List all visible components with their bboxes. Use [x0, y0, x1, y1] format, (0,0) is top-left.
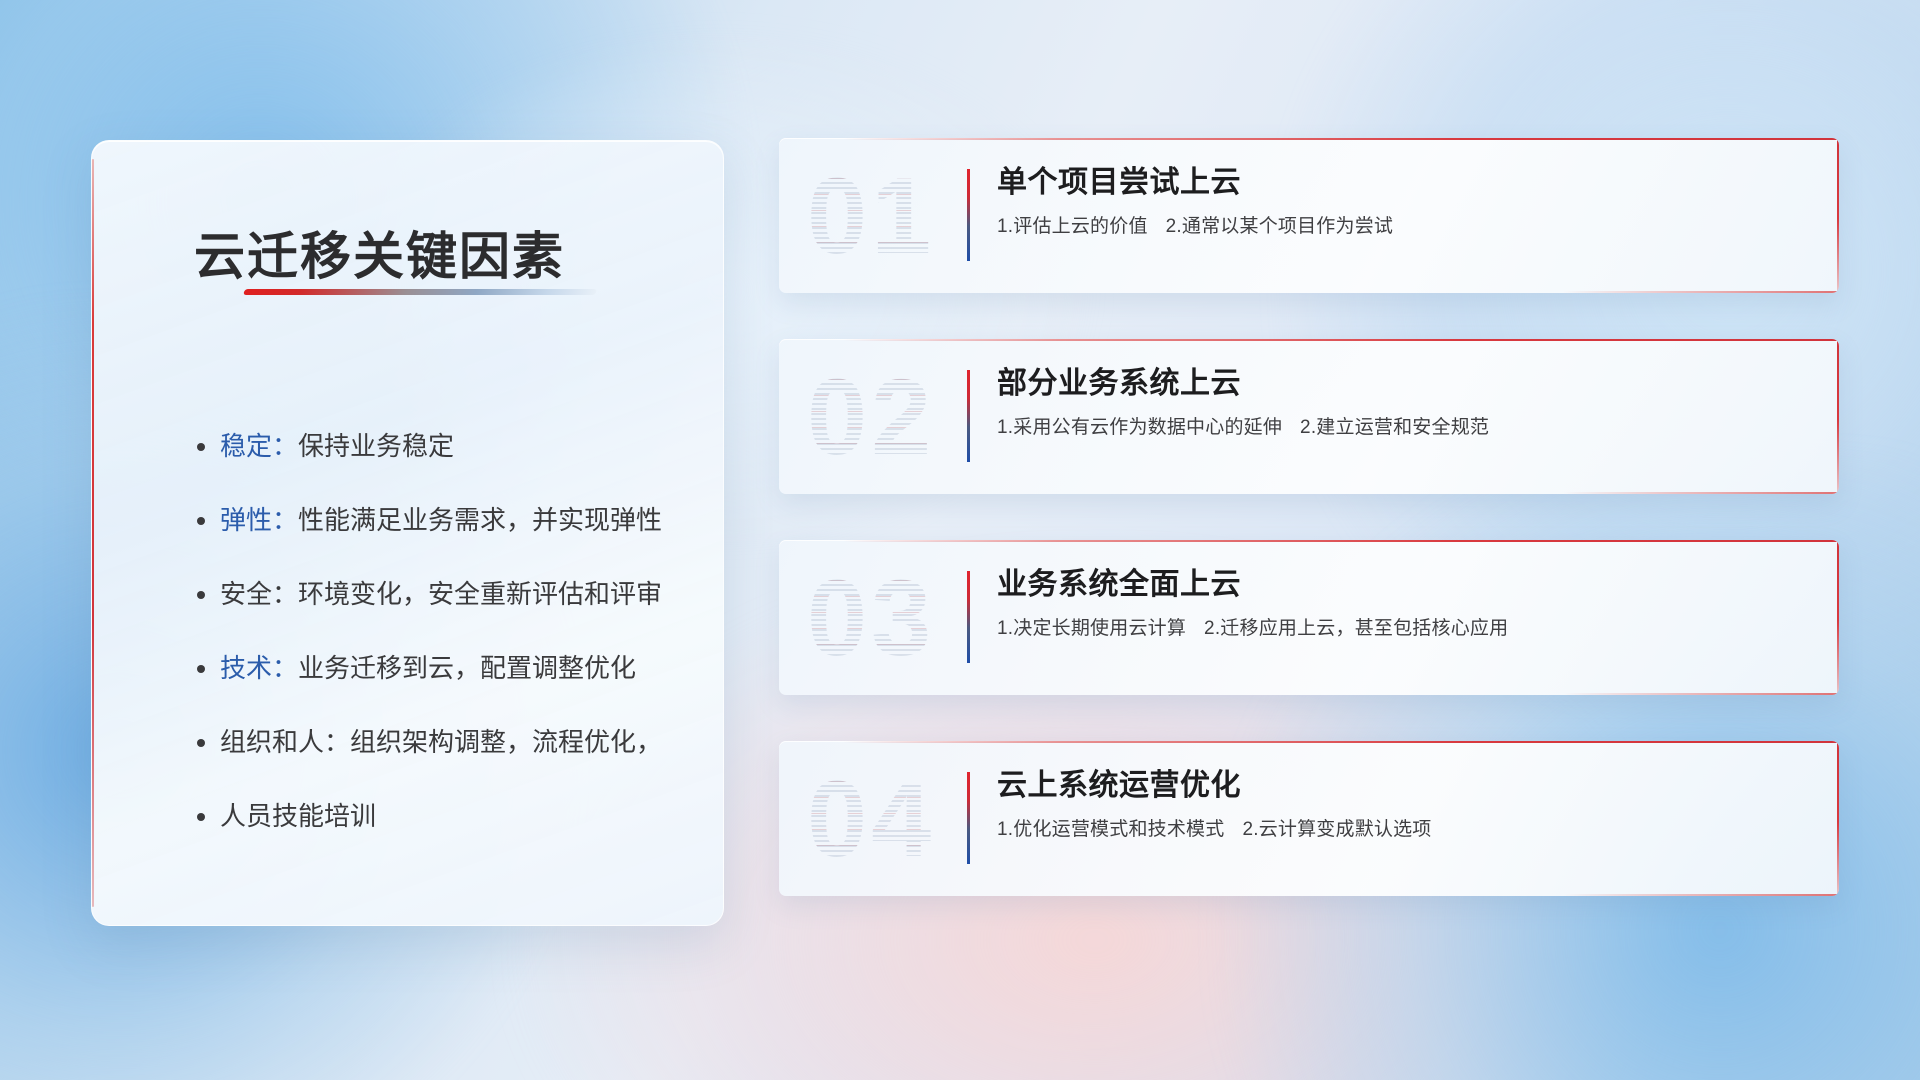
key-factor-text: 环境变化，安全重新评估和评审	[298, 579, 662, 609]
card-bottom-accent-line	[1563, 693, 1839, 695]
key-factors-panel: 云迁移关键因素 稳定：保持业务稳定弹性：性能满足业务需求，并实现弹性安全：环境变…	[91, 140, 724, 926]
key-factors-list: 稳定：保持业务稳定弹性：性能满足业务需求，并实现弹性安全：环境变化，安全重新评估…	[220, 409, 683, 853]
key-factor-label: 安全：	[220, 579, 298, 609]
step-divider-bar	[967, 169, 970, 261]
step-point: 1.评估上云的价值	[997, 216, 1148, 237]
step-point: 1.决定长期使用云计算	[997, 618, 1186, 639]
migration-steps-list: 0101单个项目尝试上云1.评估上云的价值2.通常以某个项目作为尝试0202部分…	[779, 138, 1839, 942]
key-factor-text: 人员技能培训	[220, 801, 376, 831]
key-factor-text: 组织架构调整，流程优化，	[350, 727, 662, 757]
migration-step-card[interactable]: 0202部分业务系统上云1.采用公有云作为数据中心的延伸2.建立运营和安全规范	[779, 339, 1839, 494]
page-title: 云迁移关键因素	[194, 215, 565, 289]
key-factor-label: 弹性：	[220, 505, 298, 535]
step-title: 云上系统运营优化	[997, 767, 1799, 805]
step-description: 1.优化运营模式和技术模式2.云计算变成默认选项	[997, 817, 1799, 844]
step-body: 单个项目尝试上云1.评估上云的价值2.通常以某个项目作为尝试	[997, 164, 1799, 240]
card-bottom-accent-line	[1563, 291, 1839, 293]
step-body: 部分业务系统上云1.采用公有云作为数据中心的延伸2.建立运营和安全规范	[997, 365, 1799, 441]
card-top-accent-line	[843, 339, 1839, 341]
migration-step-card[interactable]: 0404云上系统运营优化1.优化运营模式和技术模式2.云计算变成默认选项	[779, 741, 1839, 896]
key-factor-item: 稳定：保持业务稳定	[220, 409, 683, 483]
migration-step-card[interactable]: 0303业务系统全面上云1.决定长期使用云计算2.迁移应用上云，甚至包括核心应用	[779, 540, 1839, 695]
step-divider-bar	[967, 772, 970, 864]
step-point: 1.优化运营模式和技术模式	[997, 819, 1224, 840]
key-factor-text: 业务迁移到云，配置调整优化	[298, 653, 636, 683]
step-title: 单个项目尝试上云	[997, 164, 1799, 202]
card-right-accent-line	[1837, 540, 1839, 695]
card-right-accent-line	[1837, 138, 1839, 293]
step-description: 1.决定长期使用云计算2.迁移应用上云，甚至包括核心应用	[997, 616, 1799, 643]
card-top-accent-line	[843, 540, 1839, 542]
key-factor-item: 弹性：性能满足业务需求，并实现弹性	[220, 483, 683, 557]
step-point: 2.通常以某个项目作为尝试	[1166, 216, 1393, 237]
step-number-ghost: 02	[807, 363, 935, 471]
card-top-accent-line	[843, 138, 1839, 140]
step-title: 业务系统全面上云	[997, 566, 1799, 604]
step-divider-bar	[967, 571, 970, 663]
key-factor-item: 技术：业务迁移到云，配置调整优化	[220, 631, 683, 705]
step-point: 2.云计算变成默认选项	[1242, 819, 1431, 840]
step-divider-bar	[967, 370, 970, 462]
step-number-ghost: 01	[807, 162, 935, 270]
step-point: 2.建立运营和安全规范	[1300, 417, 1489, 438]
key-factor-item: 人员技能培训	[220, 779, 683, 853]
key-factor-label: 技术：	[220, 653, 298, 683]
step-title: 部分业务系统上云	[997, 365, 1799, 403]
key-factor-item: 组织和人：组织架构调整，流程优化，	[220, 705, 683, 779]
slide-stage: 云迁移关键因素 稳定：保持业务稳定弹性：性能满足业务需求，并实现弹性安全：环境变…	[0, 0, 1920, 1080]
step-description: 1.评估上云的价值2.通常以某个项目作为尝试	[997, 214, 1799, 241]
key-factor-text: 保持业务稳定	[298, 431, 454, 461]
card-right-accent-line	[1837, 741, 1839, 896]
step-number-ghost: 03	[807, 564, 935, 672]
step-point: 1.采用公有云作为数据中心的延伸	[997, 417, 1282, 438]
step-body: 云上系统运营优化1.优化运营模式和技术模式2.云计算变成默认选项	[997, 767, 1799, 843]
card-bottom-accent-line	[1563, 492, 1839, 494]
title-underline-accent	[243, 289, 597, 295]
step-number-ghost: 04	[807, 765, 935, 873]
key-factor-label: 稳定：	[220, 431, 298, 461]
key-factor-label: 组织和人：	[220, 727, 350, 757]
step-body: 业务系统全面上云1.决定长期使用云计算2.迁移应用上云，甚至包括核心应用	[997, 566, 1799, 642]
step-point: 2.迁移应用上云，甚至包括核心应用	[1204, 618, 1508, 639]
card-right-accent-line	[1837, 339, 1839, 494]
card-top-accent-line	[843, 741, 1839, 743]
migration-step-card[interactable]: 0101单个项目尝试上云1.评估上云的价值2.通常以某个项目作为尝试	[779, 138, 1839, 293]
key-factor-text: 性能满足业务需求，并实现弹性	[298, 505, 662, 535]
step-description: 1.采用公有云作为数据中心的延伸2.建立运营和安全规范	[997, 415, 1799, 442]
card-bottom-accent-line	[1563, 894, 1839, 896]
key-factor-item: 安全：环境变化，安全重新评估和评审	[220, 557, 683, 631]
